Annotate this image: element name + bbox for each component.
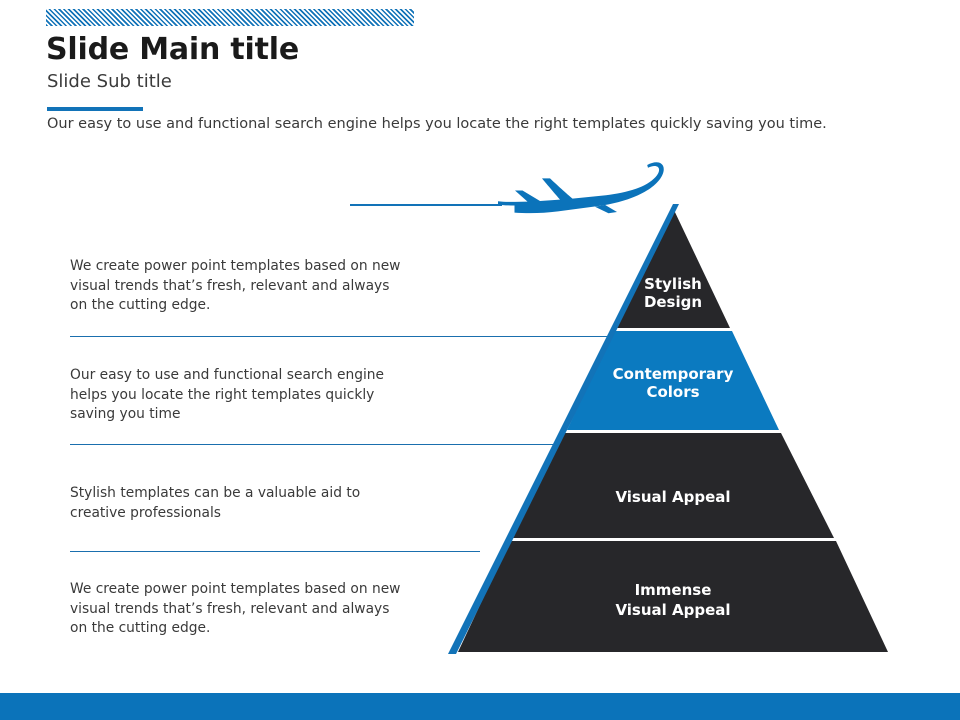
- title-underline-rule: [47, 107, 143, 111]
- slide-canvas: Slide Main title Slide Sub title Our eas…: [0, 0, 960, 720]
- tier-3-shape: [512, 433, 834, 538]
- tier-2-label-line1: Contemporary: [613, 365, 734, 383]
- description-block-4: We create power point templates based on…: [70, 580, 410, 639]
- tier-4-label-line2: Visual Appeal: [615, 601, 730, 619]
- separator-line-3: [70, 551, 480, 552]
- page-subtitle: Slide Sub title: [47, 71, 172, 92]
- pyramid-tier-contemporary-colors[interactable]: Contemporary Colors: [567, 331, 779, 430]
- pyramid-tier-stylish-design[interactable]: Stylish Design: [616, 208, 730, 328]
- lead-paragraph: Our easy to use and functional search en…: [47, 116, 827, 132]
- bottom-accent-bar: [0, 693, 960, 720]
- description-block-3: Stylish templates can be a valuable aid …: [70, 484, 410, 523]
- tier-1-label-line2: Design: [644, 293, 702, 311]
- page-title: Slide Main title: [46, 32, 299, 67]
- tier-1-label-line1: Stylish: [644, 275, 702, 293]
- tier-3-label-line1: Visual Appeal: [615, 488, 730, 506]
- description-block-1: We create power point templates based on…: [70, 257, 410, 316]
- description-block-2: Our easy to use and functional search en…: [70, 366, 410, 425]
- tier-4-label-line1: Immense: [635, 581, 712, 599]
- pyramid-tier-immense-visual-appeal[interactable]: Immense Visual Appeal: [458, 541, 888, 652]
- tier-2-label-line2: Colors: [646, 383, 699, 401]
- hatch-band-decoration: [46, 9, 414, 26]
- pyramid-diagram: Stylish Design Contemporary Colors Visua…: [430, 195, 910, 660]
- pyramid-tier-visual-appeal[interactable]: Visual Appeal: [512, 433, 834, 538]
